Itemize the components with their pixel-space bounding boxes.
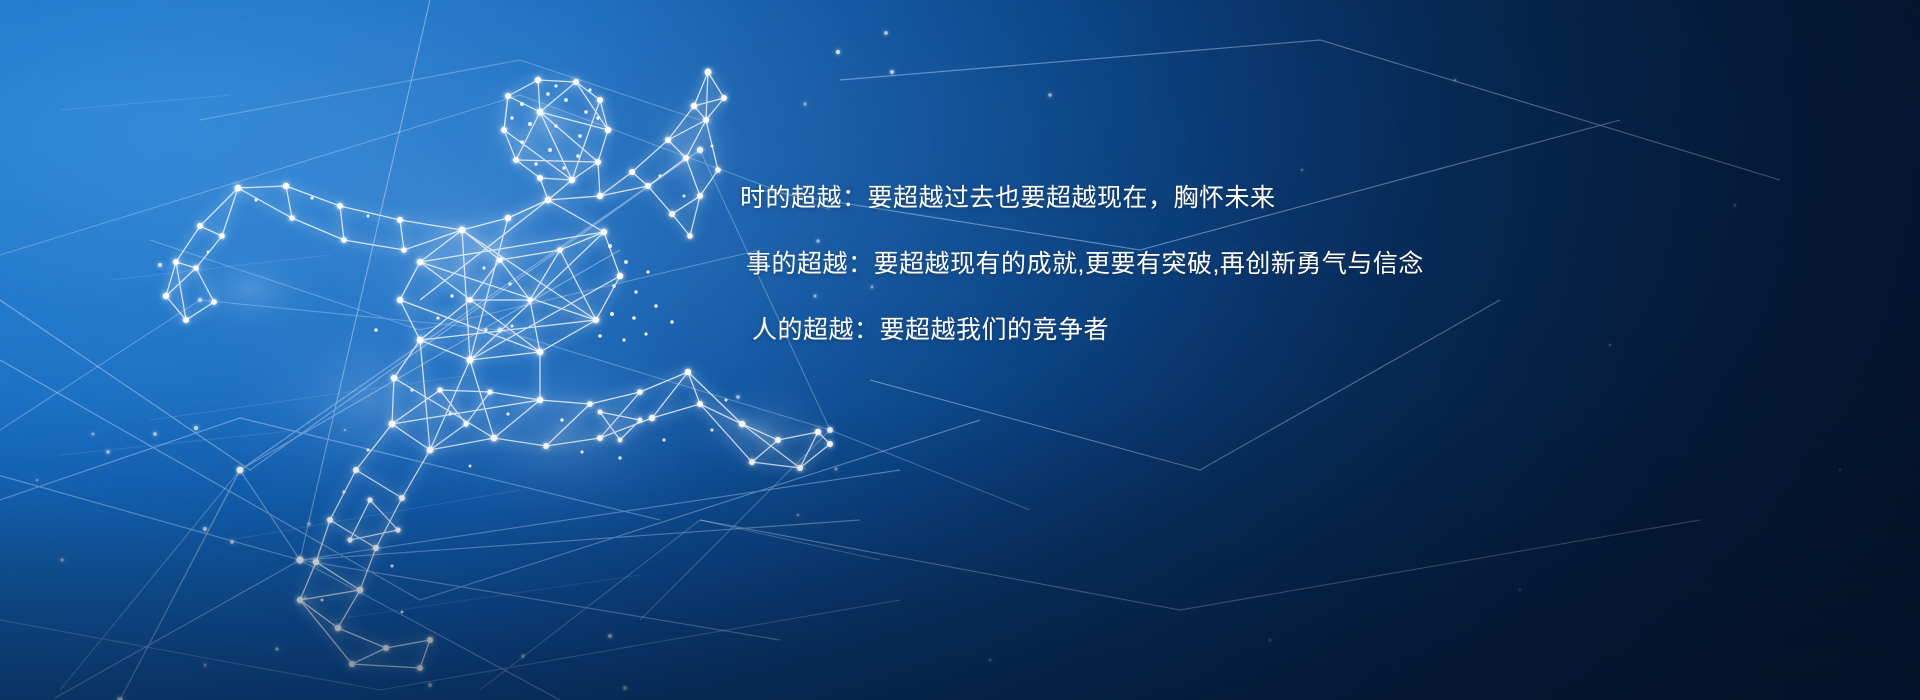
background-bottom-fade: [0, 400, 1920, 700]
slogan-line-2: 事的超越：要超越现有的成就,更要有突破,再创新勇气与信念: [746, 252, 1520, 277]
slogan-text-block: 时的超越：要超越过去也要超越现在，胸怀未来 事的超越：要超越现有的成就,更要有突…: [740, 186, 1520, 343]
slogan-line-1: 时的超越：要超越过去也要超越现在，胸怀未来: [740, 186, 1520, 211]
slogan-line-3: 人的超越：要超越我们的竞争者: [752, 318, 1520, 343]
banner-stage: 时的超越：要超越过去也要超越现在，胸怀未来 事的超越：要超越现有的成就,更要有突…: [0, 0, 1920, 700]
